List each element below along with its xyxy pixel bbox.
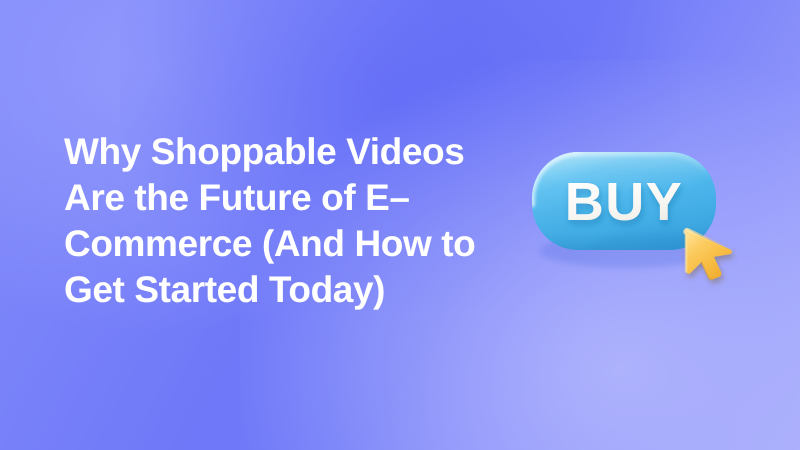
slide-canvas: Why Shoppable Videos Are the Future of E… [0, 0, 800, 450]
buy-button-illustration: BUY [516, 138, 746, 306]
page-title: Why Shoppable Videos Are the Future of E… [64, 129, 504, 313]
mouse-pointer-arrow [685, 230, 732, 280]
buy-label-text: BUY [565, 172, 684, 232]
buy-label: BUY [565, 172, 684, 232]
